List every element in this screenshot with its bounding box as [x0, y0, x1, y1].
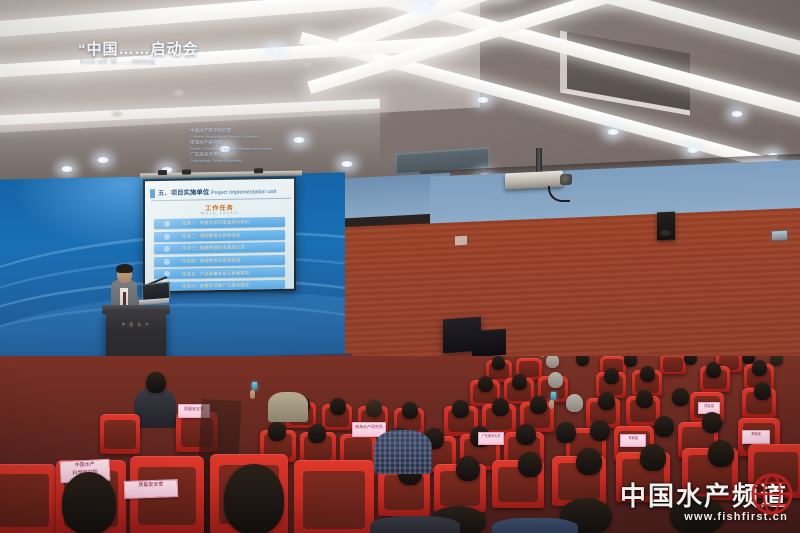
slide-task-text: 任务五：产品质量安全与质量控制 [182, 270, 279, 278]
downlight-icon [172, 89, 186, 97]
slide-surface: 五、项目实施单位 Project Implementation unit 工作任… [145, 179, 294, 292]
audience-head [624, 356, 637, 367]
audience-head [518, 452, 542, 477]
seat [100, 414, 140, 454]
seat-placard-text: 南海水产研究所 [353, 423, 385, 429]
bullet-icon [164, 221, 170, 227]
audience-head [308, 424, 326, 443]
audience-head [330, 398, 346, 415]
presenter-tie [123, 292, 126, 306]
audience-head [576, 356, 589, 366]
downlight-icon [606, 128, 620, 136]
downlight-icon [292, 136, 306, 144]
audience-head [702, 412, 722, 433]
seat [748, 444, 800, 498]
audience-head [62, 472, 116, 533]
slide-task-text: 任务六：成果示范推广与技术服务 [182, 282, 279, 290]
slide-section-number: 五、 [158, 190, 171, 197]
backdrop-title: “中国……启动会 [78, 38, 348, 59]
podium-inscription: 中 国 水 产 [112, 323, 160, 328]
backdrop-subtitle: Kick-off M……eeting [80, 58, 350, 65]
audience-head [604, 368, 619, 384]
downlight-icon [476, 96, 490, 104]
seat-placard-text: 项目组 [699, 403, 719, 408]
audience-head [708, 440, 734, 467]
audience-head [654, 416, 674, 437]
audience-head [598, 392, 615, 410]
audience-torso [370, 516, 460, 533]
raised-hand [549, 400, 554, 409]
slide-task-text: 任务二：苗种繁育与良种选育 [182, 232, 279, 240]
slide-task-row: 任务一：养殖水体环境监测与评价 [154, 217, 285, 229]
audience-torso [134, 388, 176, 428]
seat [294, 460, 374, 533]
downlight-icon [730, 110, 744, 118]
seat-placard-text: 质量安全室 [125, 480, 177, 489]
audience-torso [374, 430, 432, 474]
audience-head [478, 376, 493, 392]
audience-head [516, 424, 536, 445]
seat-placard: 质量安全室 [124, 479, 179, 499]
screen-clip [182, 170, 191, 175]
audience-seating-area: 项目组 专家组 养殖室 [0, 356, 800, 533]
bullet-icon [164, 233, 170, 239]
floor-speaker-cabinet [472, 329, 506, 357]
seat-placard-text: 养殖室 [743, 431, 769, 436]
audience-head [672, 388, 689, 406]
downlight-icon [418, 0, 432, 8]
seat-placard: 专家组 [620, 434, 646, 447]
seat-placard: 广东海洋大学 [478, 432, 504, 445]
audience-torso [268, 392, 308, 422]
audience-head [546, 356, 559, 368]
audience-head [146, 372, 166, 393]
audience-head [268, 422, 286, 441]
downlight-icon [60, 165, 74, 173]
presenter-hair [116, 264, 133, 273]
audience-head [548, 372, 563, 388]
speaker-cone-icon [660, 230, 671, 236]
audience-head [224, 464, 284, 533]
seat-placard-text: 广东海洋大学 [479, 433, 503, 438]
audience-head [366, 400, 382, 417]
audience-head [566, 394, 583, 412]
downlight-icon [110, 110, 124, 118]
audience-head [640, 444, 666, 471]
audience-torso [492, 518, 578, 533]
seat [0, 464, 56, 533]
audience-head [640, 366, 655, 382]
audience-head [492, 356, 505, 370]
downlight-icon [340, 160, 354, 168]
raised-hand [250, 390, 255, 399]
slide-task-row: 任务五：产品质量安全与质量控制 [154, 267, 285, 279]
slide-divider [151, 198, 291, 201]
audience-head [590, 420, 610, 441]
bullet-icon [164, 259, 170, 265]
auditorium-photo: “中国……启动会 Kick-off M……eeting 中国水产科学研究院 Ch… [0, 0, 800, 533]
ceiling [0, 0, 800, 186]
slide-section-title-cn: 项目实施单位 [171, 189, 209, 197]
backdrop-organization-list: 中国水产科学研究院 Chinese Academy of Fishery Sci… [190, 128, 272, 164]
audience-head [530, 396, 547, 414]
audience-head [456, 456, 480, 481]
audience-head [752, 360, 767, 376]
audience-head [576, 448, 602, 475]
smartphone [551, 392, 556, 400]
audience-head [492, 398, 509, 416]
screen-clip [158, 170, 167, 175]
slide-task-list: 任务一：养殖水体环境监测与评价 任务二：苗种繁育与良种选育 任务三：健康养殖技术… [154, 217, 285, 291]
slide-task-row: 任务二：苗种繁育与良种选育 [154, 229, 285, 241]
slide-accent-bar [150, 189, 155, 198]
wall-emergency-sign [771, 230, 788, 242]
screen-clip [254, 168, 263, 173]
audience-head [452, 400, 469, 418]
smartphone [252, 382, 257, 390]
wall-mounted-speaker [657, 212, 675, 241]
wall-plate-left [455, 236, 467, 246]
bullet-icon [164, 246, 170, 252]
slide-task-text: 任务一：养殖水体环境监测与评价 [182, 219, 279, 227]
slide-task-text: 任务三：健康养殖技术集成示范 [182, 244, 279, 252]
slide-task-text: 任务四：病害防控与用药规范 [182, 257, 279, 265]
slide-section-heading: 五、项目实施单位 Project Implementation unit [158, 186, 276, 197]
audience-head [670, 496, 724, 533]
seat [660, 356, 686, 374]
projector-lens-icon [560, 174, 572, 186]
projector-mount-pole [536, 148, 542, 174]
audience-head [706, 362, 721, 378]
slide-task-row: 任务四：病害防控与用药规范 [154, 255, 285, 267]
seat-placard: 养殖室 [742, 430, 770, 444]
backdrop-org-line: Guangdong Ocean University [190, 158, 272, 164]
slide-task-row: 任务三：健康养殖技术集成示范 [154, 242, 285, 254]
downlight-icon [686, 146, 700, 154]
audience-head [402, 402, 418, 419]
slide-section-title-en: Project Implementation unit [211, 189, 276, 196]
downlight-icon [96, 156, 110, 164]
audience-head [636, 390, 653, 408]
audience-head [556, 422, 576, 443]
audience-head [512, 374, 527, 390]
seat-placard-text: 专家组 [621, 435, 645, 440]
slide-task-row: 任务六：成果示范推广与技术服务 [154, 280, 285, 291]
audience-head [754, 382, 771, 400]
